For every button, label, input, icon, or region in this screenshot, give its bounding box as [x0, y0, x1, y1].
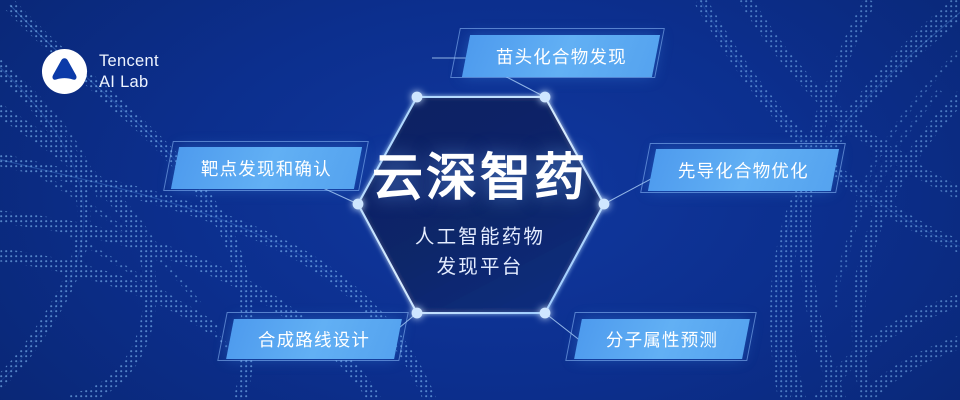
node-badge-target-discovery[interactable]: 靶点发现和确认 — [171, 147, 362, 189]
node-badge-label-target-discovery: 靶点发现和确认 — [201, 156, 332, 181]
tencent-ai-lab-logo-icon — [41, 48, 88, 95]
node-badge-lead-optimization[interactable]: 先导化合物优化 — [648, 149, 839, 191]
node-badge-label-property-prediction: 分子属性预测 — [606, 327, 718, 352]
promo-banner: Tencent AI Lab 云深智药 人工智能药物 发现平台 苗头化合物发现 … — [0, 0, 960, 400]
node-badge-label-synthesis-route: 合成路线设计 — [258, 327, 370, 352]
node-badge-synthesis-route[interactable]: 合成路线设计 — [226, 319, 402, 359]
node-badge-label-lead-optimization: 先导化合物优化 — [678, 158, 809, 183]
hexagon-outline — [358, 97, 604, 313]
node-badge-property-prediction[interactable]: 分子属性预测 — [574, 319, 750, 359]
node-badge-label-hit-discovery: 苗头化合物发现 — [496, 44, 627, 69]
logo-wordmark: Tencent AI Lab — [99, 30, 159, 113]
tencent-ai-lab-logo: Tencent AI Lab — [41, 30, 159, 113]
logo-company-line1: Tencent — [99, 52, 159, 70]
node-badge-hit-discovery[interactable]: 苗头化合物发现 — [462, 35, 660, 77]
logo-company-line2: AI Lab — [99, 72, 159, 93]
